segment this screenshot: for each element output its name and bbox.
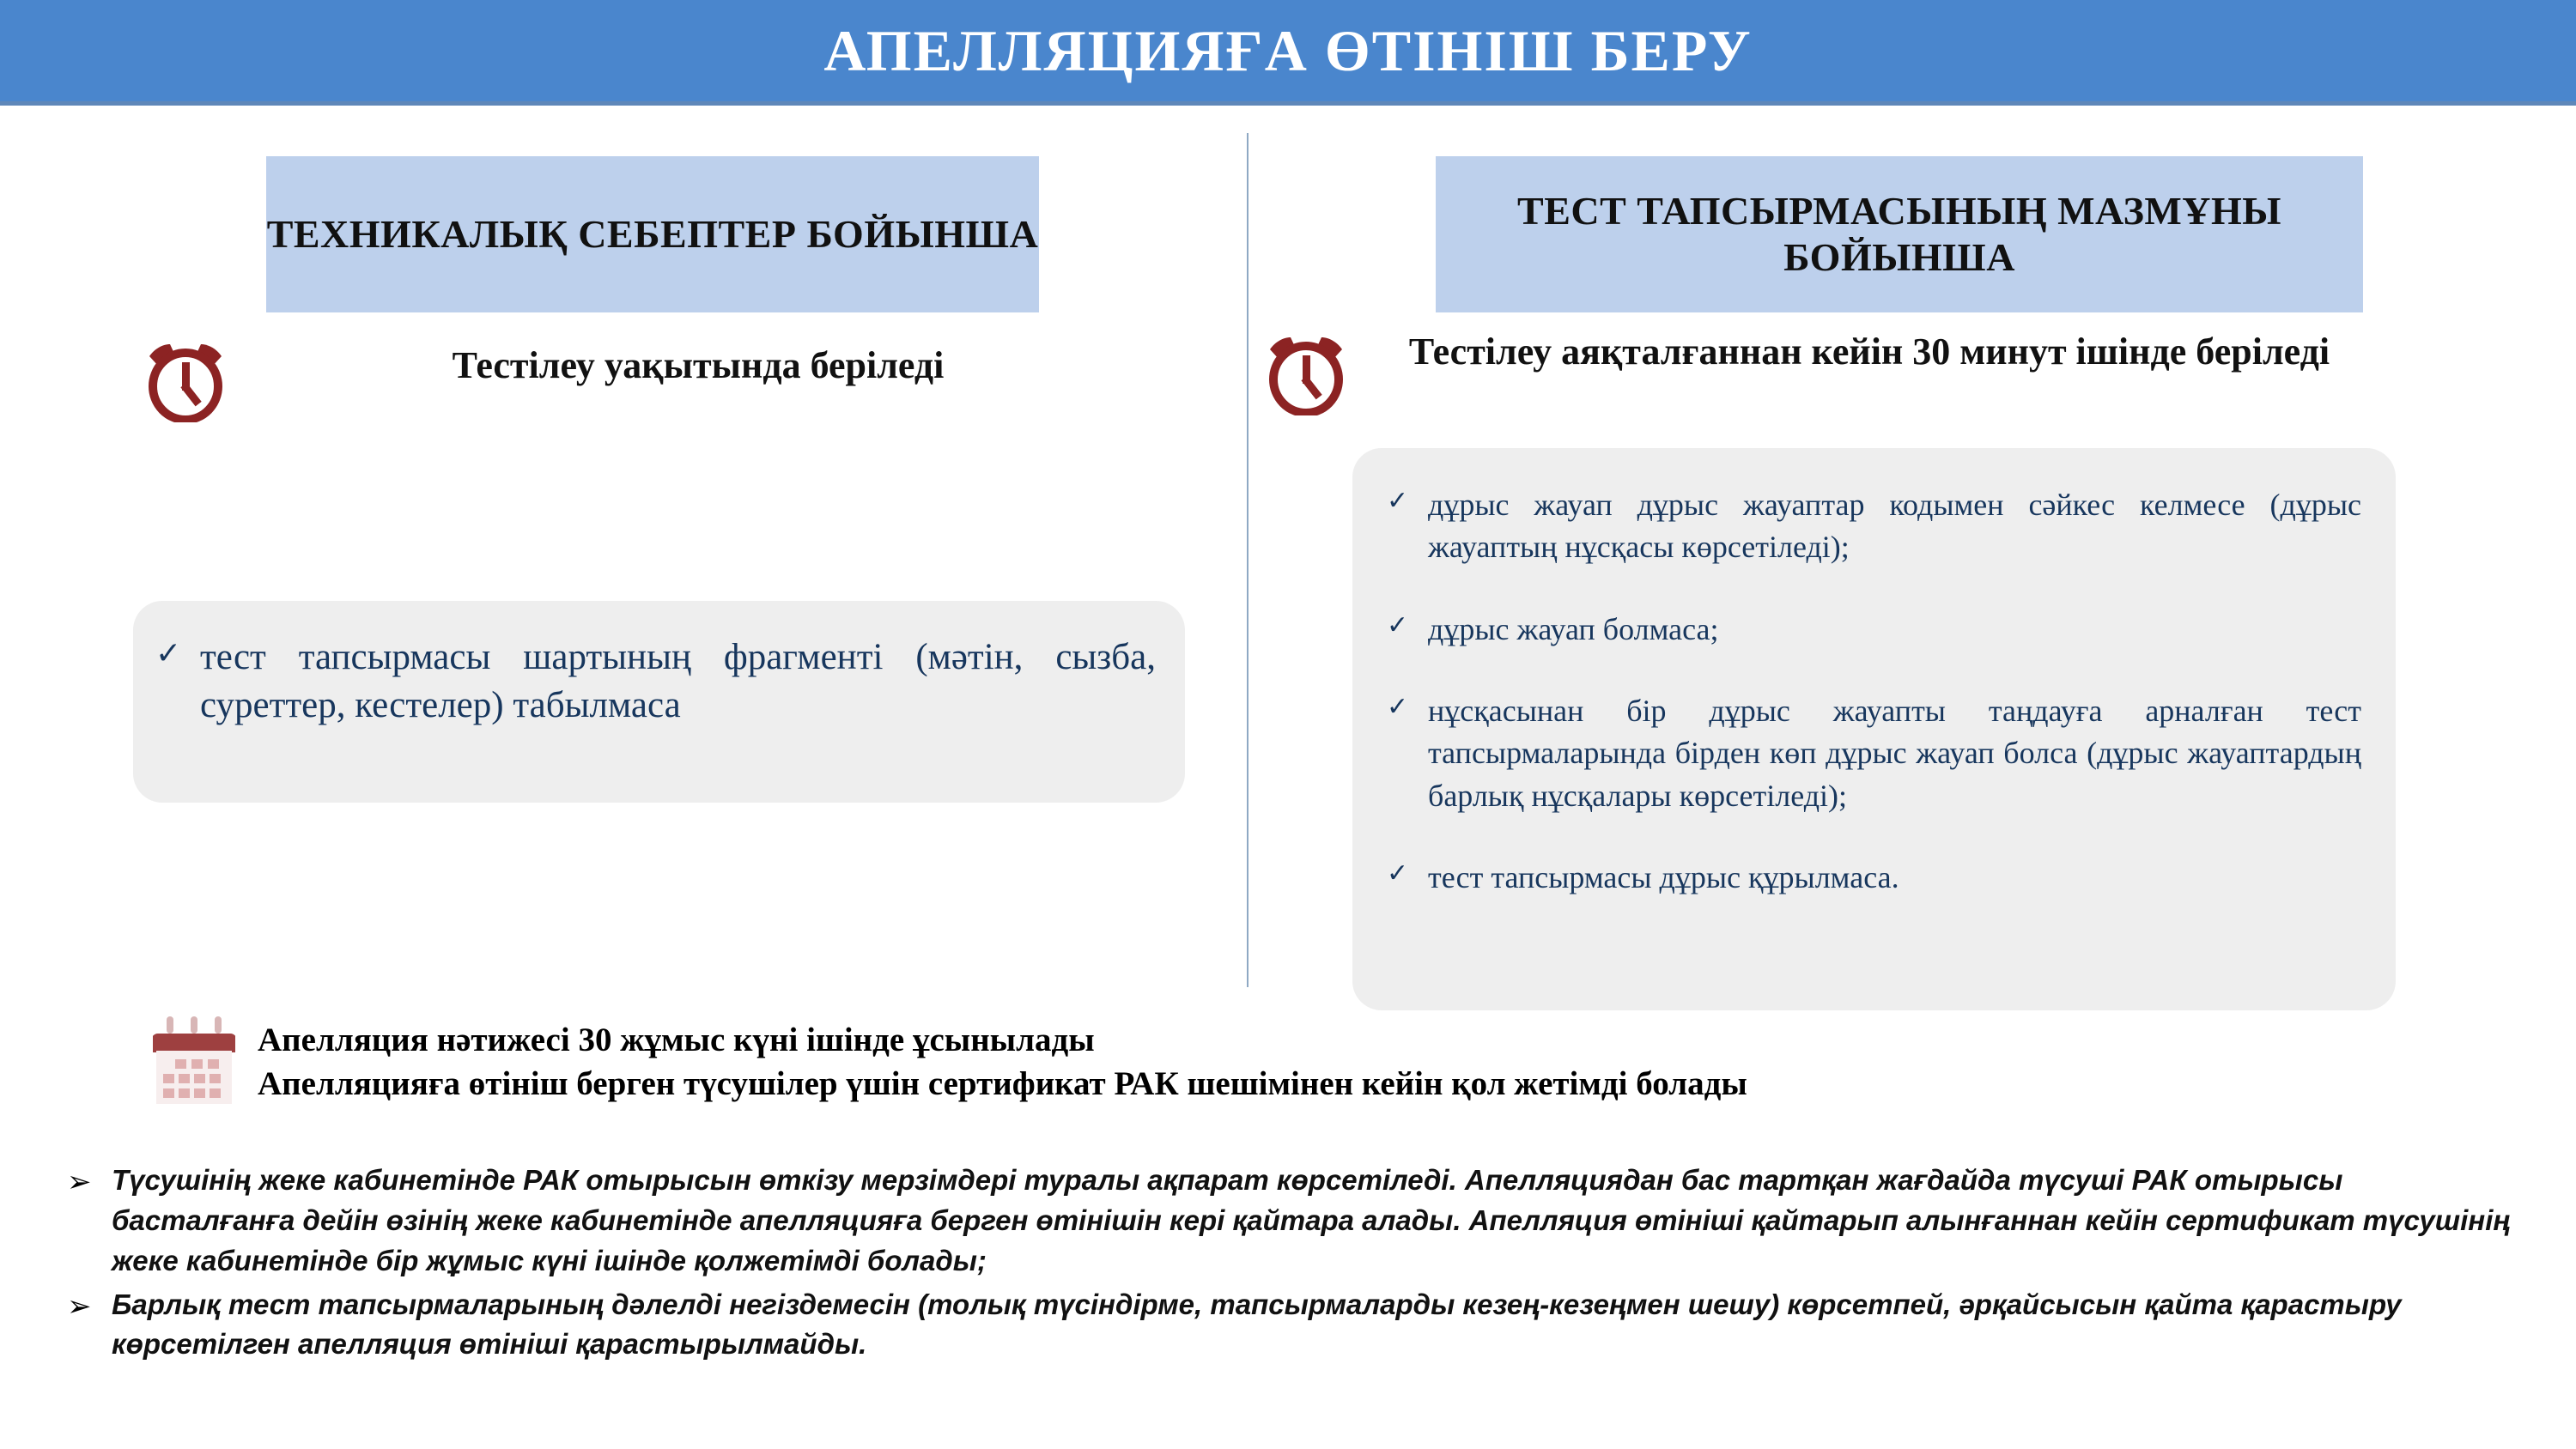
alarm-clock-icon [1267,333,1346,420]
calendar-note-text: Апелляция нәтижесі 30 жұмыс күні ішінде … [258,1013,1747,1106]
right-subtitle-row: Тестілеу аяқталғаннан кейін 30 минут іші… [1267,328,2374,420]
checkmark-icon: ✓ [155,634,200,674]
note-item: ➢ Барлық тест тапсырмаларының дәлелді не… [67,1285,2531,1366]
right-subtitle-text: Тестілеу аяқталғаннан кейін 30 минут іші… [1364,328,2374,375]
header-banner: АПЕЛЛЯЦИЯҒА ӨТІНІШ БЕРУ [0,0,2576,106]
alarm-clock-icon [146,340,225,427]
list-item: ✓ дұрыс жауап болмаса; [1387,609,2361,651]
note-text: Түсушінің жеке кабинетінде РАК отырысын … [112,1161,2531,1282]
column-divider [1247,133,1249,987]
calendar-note: Апелляция нәтижесі 30 жұмыс күні ішінде … [153,1013,1747,1112]
calendar-icon [153,1015,235,1112]
left-subtitle-text: Тестілеу уақытында беріледі [254,335,1142,389]
left-content-card: ✓ тест тапсырмасы шартының фрагменті (мә… [133,601,1185,803]
list-item-text: нұсқасынан бір дұрыс жауапты таңдауға ар… [1428,690,2361,817]
left-subtitle-row: Тестілеу уақытында беріледі [146,335,1142,427]
list-item-text: дұрыс жауап дұрыс жауаптар кодымен сәйке… [1428,484,2361,569]
list-item: ✓ тест тапсырмасы шартының фрагменті (мә… [155,634,1163,730]
list-item: ✓ нұсқасынан бір дұрыс жауапты таңдауға … [1387,690,2361,817]
right-column-heading: ТЕСТ ТАПСЫРМАСЫНЫҢ МАЗМҰНЫ БОЙЫНША [1436,156,2363,312]
right-bullet-list: ✓ дұрыс жауап дұрыс жауаптар кодымен сәй… [1352,448,2396,899]
left-column-heading: ТЕХНИКАЛЫҚ СЕБЕПТЕР БОЙЫНША [266,156,1039,312]
calendar-note-line-2: Апелляцияға өтініш берген түсушілер үшін… [258,1065,1747,1102]
calendar-note-line-1: Апелляция нәтижесі 30 жұмыс күні ішінде … [258,1022,1095,1058]
note-item: ➢ Түсушінің жеке кабинетінде РАК отырысы… [67,1161,2531,1282]
right-content-card: ✓ дұрыс жауап дұрыс жауаптар кодымен сәй… [1352,448,2396,1010]
list-item-text: тест тапсырмасы шартының фрагменті (мәті… [200,634,1163,730]
page-title: АПЕЛЛЯЦИЯҒА ӨТІНІШ БЕРУ [823,21,1752,80]
checkmark-icon: ✓ [1387,857,1428,892]
checkmark-icon: ✓ [1387,609,1428,644]
note-text: Барлық тест тапсырмаларының дәлелді негі… [112,1285,2531,1366]
checkmark-icon: ✓ [1387,690,1428,725]
arrow-bullet-icon: ➢ [67,1285,112,1328]
footer-notes: ➢ Түсушінің жеке кабинетінде РАК отырысы… [67,1161,2531,1368]
left-bullet-list: ✓ тест тапсырмасы шартының фрагменті (мә… [133,601,1185,730]
list-item: ✓ тест тапсырмасы дұрыс құрылмаса. [1387,857,2361,899]
arrow-bullet-icon: ➢ [67,1161,112,1203]
list-item: ✓ дұрыс жауап дұрыс жауаптар кодымен сәй… [1387,484,2361,569]
checkmark-icon: ✓ [1387,484,1428,519]
list-item-text: дұрыс жауап болмаса; [1428,609,2361,651]
list-item-text: тест тапсырмасы дұрыс құрылмаса. [1428,857,2361,899]
